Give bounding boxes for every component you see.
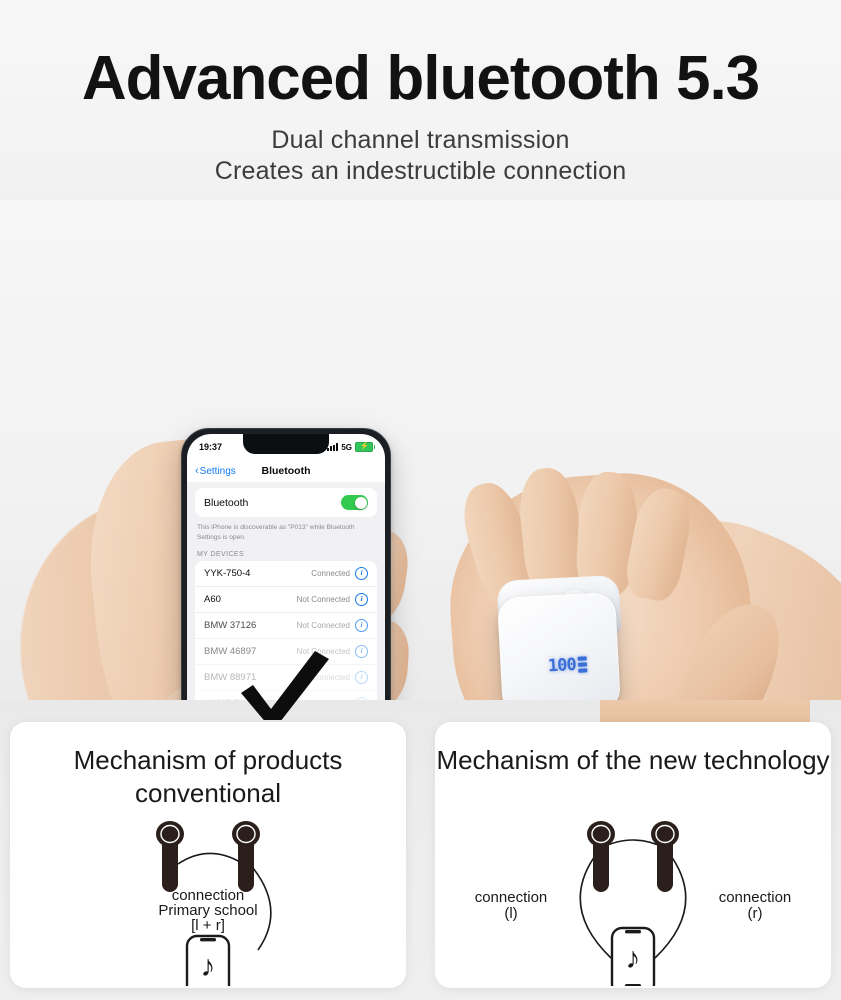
label-connection-right: connection xyxy=(719,889,792,906)
table-row[interactable]: A60 Not Connected i xyxy=(195,587,377,613)
nav-bar: ‹ Settings Bluetooth xyxy=(187,460,385,482)
led-battery-value: 100 xyxy=(548,655,577,676)
info-circle-icon[interactable]: i xyxy=(355,645,368,658)
chevron-left-icon: ‹ xyxy=(195,466,199,477)
smartphone: 19:37 5G ⚡ ‹ Settings Bluetooth xyxy=(181,428,391,720)
diagram-new-technology: connection (l) connection (r) ♪ xyxy=(435,818,831,986)
case-led-display: 100 xyxy=(547,647,601,684)
label-connection-left-side: (l) xyxy=(504,905,517,922)
earbud-left-icon xyxy=(587,821,615,892)
card-title: Mechanism of products conventional xyxy=(10,744,406,809)
info-circle-icon[interactable]: i xyxy=(355,593,368,606)
device-name: YYK-750-4 xyxy=(204,568,250,579)
hero-section: Advanced bluetooth 5.3 Dual channel tran… xyxy=(0,0,841,200)
card-new-technology: Mechanism of the new technology connecti… xyxy=(435,722,831,988)
phone-notch xyxy=(243,434,329,454)
back-button[interactable]: ‹ Settings xyxy=(195,466,236,477)
page-title: Advanced bluetooth 5.3 xyxy=(0,48,841,110)
phone-music-icon: ♪ xyxy=(612,928,654,986)
music-note-glyph: ♪ xyxy=(201,950,216,983)
diagram-conventional: connection Primary school [l + r] ♪ xyxy=(10,818,406,986)
battery-charging-icon: ⚡ xyxy=(355,442,373,452)
info-circle-icon[interactable]: i xyxy=(355,671,368,684)
discoverable-hint: This iPhone is discoverable as "P013" wh… xyxy=(197,523,375,542)
bluetooth-label: Bluetooth xyxy=(204,497,248,509)
earbud-left-icon xyxy=(156,821,184,892)
table-row[interactable]: YYK-750-4 Connected i xyxy=(195,561,377,587)
back-button-label: Settings xyxy=(200,466,236,477)
earbud-right-icon xyxy=(651,821,679,892)
phone-music-icon: ♪ xyxy=(187,936,229,986)
table-row[interactable]: BMW 37126 Not Connected i xyxy=(195,613,377,639)
earbud-right-icon xyxy=(232,821,260,892)
device-name: A60 xyxy=(204,594,221,605)
bluetooth-toggle-row[interactable]: Bluetooth xyxy=(195,488,377,517)
my-devices-header: MY DEVICES xyxy=(197,551,375,558)
label-connection-right-side: (r) xyxy=(748,905,763,922)
signal-bars-icon xyxy=(327,443,338,451)
info-circle-icon[interactable]: i xyxy=(355,567,368,580)
product-infographic: Advanced bluetooth 5.3 Dual channel tran… xyxy=(0,0,841,1000)
label-lr: [l + r] xyxy=(191,917,225,934)
device-status: Not Connected xyxy=(297,621,350,630)
status-time: 19:37 xyxy=(199,442,222,452)
subtitle-line-1: Dual channel transmission xyxy=(0,126,841,155)
device-name: BMW 37126 xyxy=(204,620,256,631)
device-status: Not Connected xyxy=(297,595,350,604)
subtitle-line-2: Creates an indestructible connection xyxy=(0,157,841,186)
label-connection-left: connection xyxy=(475,889,548,906)
product-photo-band: 19:37 5G ⚡ ‹ Settings Bluetooth xyxy=(0,200,841,720)
phone-screen: 19:37 5G ⚡ ‹ Settings Bluetooth xyxy=(187,434,385,720)
network-label: 5G xyxy=(341,443,352,452)
card-conventional: Mechanism of products conventional conne… xyxy=(10,722,406,988)
checkmark-icon xyxy=(237,649,333,720)
info-circle-icon[interactable]: i xyxy=(355,619,368,632)
device-status: Connected xyxy=(311,569,350,578)
card-title: Mechanism of the new technology xyxy=(435,744,831,777)
music-note-glyph: ♪ xyxy=(626,942,641,975)
bluetooth-toggle[interactable] xyxy=(341,495,368,510)
led-battery-bars-icon xyxy=(577,656,587,672)
